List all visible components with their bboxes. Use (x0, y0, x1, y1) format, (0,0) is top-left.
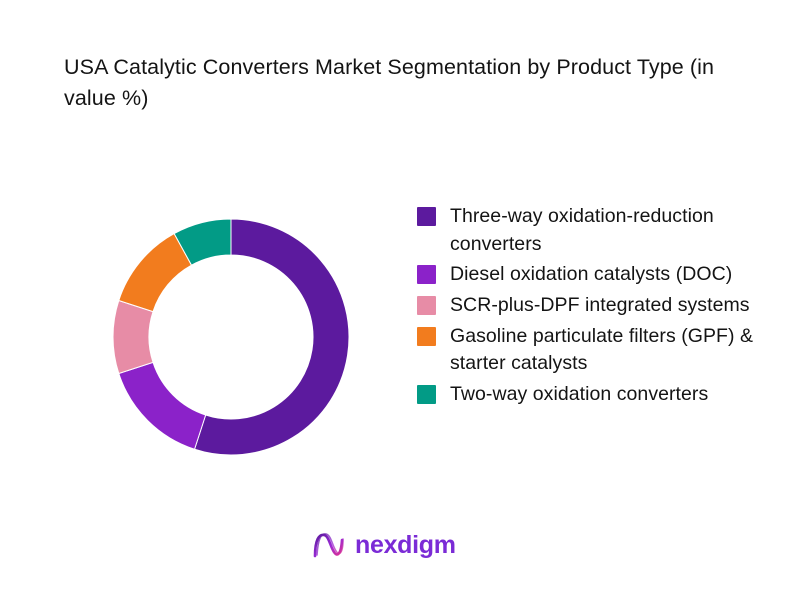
legend-swatch-diesel-oxidation-catalysts (417, 265, 436, 284)
legend-item[interactable]: SCR-plus-DPF integrated systems (417, 292, 789, 320)
legend-swatch-gasoline-particulate-filters (417, 327, 436, 346)
legend-item[interactable]: Gasoline particulate filters (GPF) & sta… (417, 323, 789, 378)
donut-chart (113, 219, 349, 455)
donut-slice[interactable] (113, 301, 153, 374)
legend-item-label: Diesel oxidation catalysts (DOC) (450, 261, 732, 289)
page-title: USA Catalytic Converters Market Segmenta… (64, 52, 724, 114)
donut-slice[interactable] (119, 362, 206, 449)
legend-item-label: Two-way oxidation converters (450, 381, 708, 409)
legend-item[interactable]: Diesel oxidation catalysts (DOC) (417, 261, 789, 289)
legend-item-label: SCR-plus-DPF integrated systems (450, 292, 750, 320)
brand-logo-text: nexdigm (355, 533, 456, 558)
legend-item[interactable]: Three-way oxidation-reduction converters (417, 203, 789, 258)
legend-swatch-scr-plus-dpf-integrated-systems (417, 296, 436, 315)
brand-logo: nexdigm (312, 528, 456, 562)
legend-item[interactable]: Two-way oxidation converters (417, 381, 789, 409)
legend-swatch-three-way-oxidation-reduction-converters (417, 207, 436, 226)
nexdigm-logo-mark-icon (312, 530, 346, 560)
chart-legend: Three-way oxidation-reduction converters… (417, 203, 789, 412)
chart-page: USA Catalytic Converters Market Segmenta… (0, 0, 800, 600)
legend-swatch-two-way-oxidation-converters (417, 385, 436, 404)
legend-item-label: Gasoline particulate filters (GPF) & sta… (450, 323, 780, 378)
donut-slice-group (113, 219, 349, 455)
donut-chart-svg (113, 219, 349, 455)
legend-item-label: Three-way oxidation-reduction converters (450, 203, 780, 258)
